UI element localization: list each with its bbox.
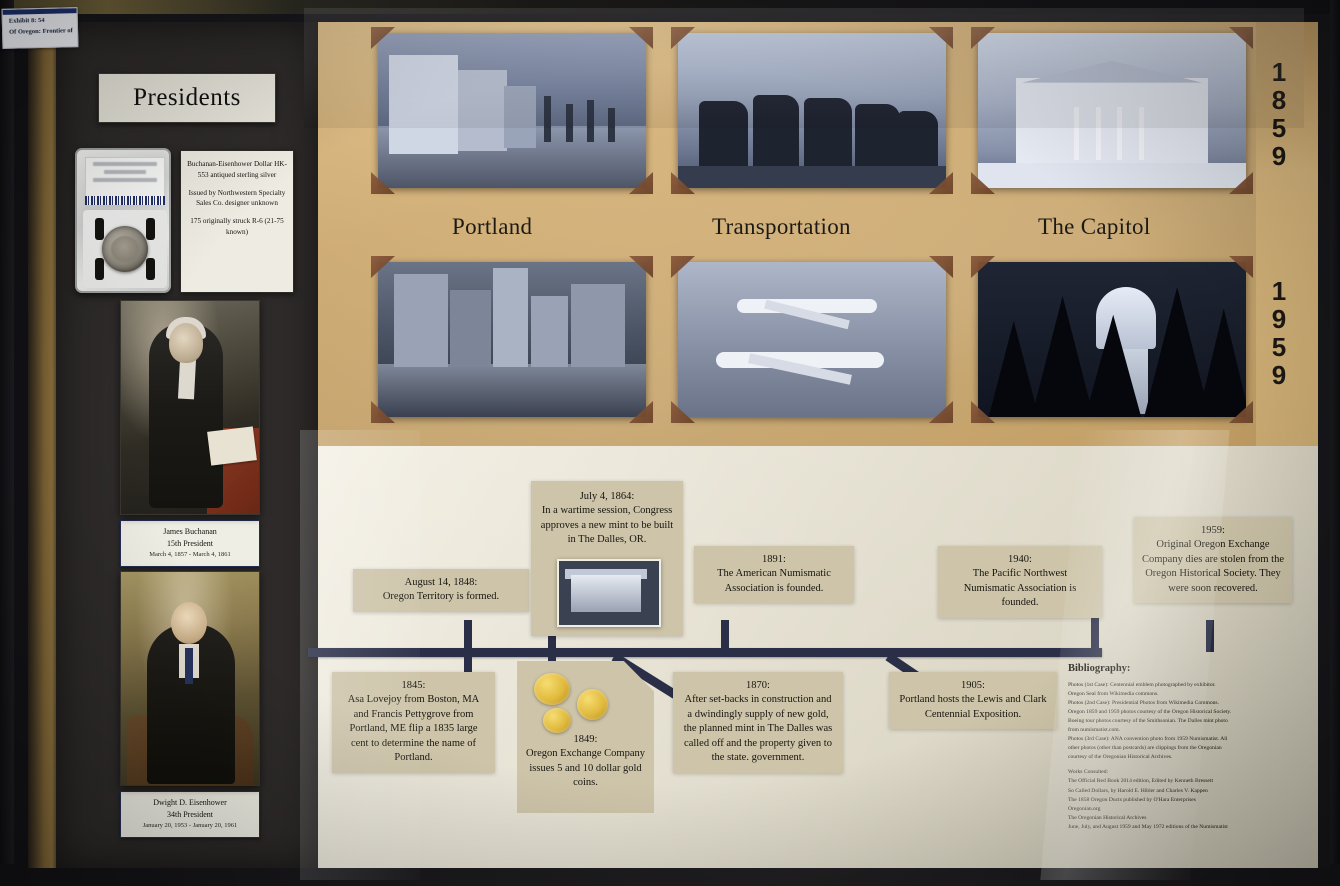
coin-card-para-3: 175 originally struck R-6 (21-75 known) <box>186 216 288 238</box>
timeline-card-1940: 1940: The Pacific Northwest Numismatic A… <box>938 546 1102 618</box>
gold-coin-icon <box>577 689 608 720</box>
timeline-card-text: The Pacific Northwest Numismatic Associa… <box>946 567 1094 610</box>
bibliography-line: Oregon 1859 and 1959 photos courtesy of … <box>1068 708 1330 717</box>
year-label-1959: 1959 <box>1266 277 1292 389</box>
timeline-card-text: Original Oregon Exchange Company dies ar… <box>1142 538 1284 596</box>
the-dalles-mint-photo <box>557 559 661 627</box>
bibliography-line: Photos (2nd Case): Presidential Photos f… <box>1068 699 1330 708</box>
timeline-card-1959: 1959: Original Oregon Exchange Company d… <box>1134 517 1292 603</box>
timeline-card-1891: 1891: The American Numismatic Associatio… <box>694 546 854 603</box>
year-label-1859: 1859 <box>1266 58 1292 170</box>
timeline-card-text: Oregon Territory is formed. <box>361 590 521 604</box>
bibliography-line: Oregon Seal from Wikimedia commons. <box>1068 690 1330 699</box>
timeline-card-text: Portland hosts the Lewis and Clark Cente… <box>897 693 1049 722</box>
timeline-card-year: August 14, 1848: <box>361 576 521 590</box>
bibliography-line: from numismatist.com. <box>1068 726 1330 735</box>
timeline-stub-1940 <box>1091 618 1099 652</box>
graded-coin-slab <box>75 148 171 293</box>
coin-description-card: Buchanan-Eisenhower Dollar HK-553 antiqu… <box>180 150 294 293</box>
portrait-caption-buchanan: James Buchanan 15th President March 4, 1… <box>120 520 260 567</box>
slab-label-line <box>93 178 157 182</box>
president-term-dates: March 4, 1857 - March 4, 1861 <box>124 550 256 560</box>
timeline-card-year: 1940: <box>946 553 1094 567</box>
works-consulted-heading: Works Consulted: <box>1068 768 1330 777</box>
photo-capitol-1959 <box>978 262 1246 417</box>
president-name: James Buchanan <box>124 526 256 538</box>
timeline-card-year: 1870: <box>681 679 835 693</box>
timeline-card-text: Asa Lovejoy from Boston, MA and Francis … <box>340 693 487 765</box>
bibliography-line: June, July, and August 1959 and May 1972… <box>1068 823 1330 832</box>
bibliography-line: courtesy of the Oregonian Historical Arc… <box>1068 753 1330 762</box>
president-term-dates: January 20, 1953 - January 20, 1961 <box>124 821 256 831</box>
timeline-card-year: 1891: <box>702 553 846 567</box>
president-name: Dwight D. Eisenhower <box>124 797 256 809</box>
timeline-card-text: After set-backs in construction and a dw… <box>681 693 835 765</box>
timeline-card-text: Oregon Exchange Company issues 5 and 10 … <box>524 747 647 790</box>
timeline-card-1870: 1870: After set-backs in construction an… <box>673 672 843 773</box>
exhibit-number-sticker: Exhibit 8: 54 Of Oregon: Frontier of <box>2 7 79 49</box>
presidents-title-plaque: Presidents <box>98 73 276 123</box>
timeline-card-1905: 1905: Portland hosts the Lewis and Clark… <box>889 672 1057 729</box>
bibliography-works-consulted: Works Consulted: The Official Red Book 2… <box>1068 768 1330 831</box>
coin-card-para-1: Buchanan-Eisenhower Dollar HK-553 antiqu… <box>186 159 288 181</box>
case-inner-left-wall <box>28 22 58 868</box>
timeline-card-1864: July 4, 1864: In a wartime session, Cong… <box>531 481 683 636</box>
timeline-card-year: 1849: <box>524 733 647 747</box>
president-rank: 15th President <box>124 538 256 550</box>
portrait-block-buchanan: James Buchanan 15th President March 4, 1… <box>120 300 260 567</box>
timeline-card-text: The American Numismatic Association is f… <box>702 567 846 596</box>
photo-portland-1959 <box>378 262 646 417</box>
slab-barcode <box>85 196 165 205</box>
dwight-eisenhower-portrait-image <box>120 571 260 786</box>
bibliography-line: Photos (1st Case): Centennial emblem pho… <box>1068 681 1330 690</box>
photo-transportation-1859 <box>678 33 946 188</box>
slab-coin-window <box>83 210 167 288</box>
case-frame-left <box>0 0 14 886</box>
timeline-card-year: 1905: <box>897 679 1049 693</box>
photo-column-label-portland: Portland <box>452 214 532 240</box>
timeline-card-1845: 1845: Asa Lovejoy from Boston, MA and Fr… <box>332 672 495 773</box>
president-rank: 34th President <box>124 809 256 821</box>
timeline-stub-1959 <box>1206 620 1214 652</box>
bibliography-line: The Oregonian Historical Archives <box>1068 814 1330 823</box>
photo-transportation-1959 <box>678 262 946 417</box>
photo-portland-1859 <box>378 33 646 188</box>
photo-column-label-capitol: The Capitol <box>1038 214 1151 240</box>
buchanan-eisenhower-dollar-coin <box>102 226 148 272</box>
timeline-main-bar <box>308 648 1102 657</box>
gold-coin-icon <box>543 708 571 733</box>
timeline-card-year: 1959: <box>1142 524 1284 538</box>
portrait-block-eisenhower: Dwight D. Eisenhower 34th President Janu… <box>120 571 260 838</box>
bibliography-heading: Bibliography: <box>1068 663 1330 674</box>
bibliography-line: So Called Dollars, by Harold E. Hibler a… <box>1068 787 1330 796</box>
photo-column-label-transportation: Transportation <box>712 214 851 240</box>
bibliography-line: other photos (other than postcards) are … <box>1068 744 1330 753</box>
james-buchanan-portrait-image <box>120 300 260 515</box>
timeline-card-text: In a wartime session, Congress approves … <box>539 504 675 547</box>
bibliography-line: The Official Red Book 2014 edition, Edit… <box>1068 777 1330 786</box>
page-title: Presidents <box>133 84 241 112</box>
photo-capitol-1859 <box>978 33 1246 188</box>
exhibit-case-photograph: Exhibit 8: 54 Of Oregon: Frontier of Pre… <box>0 0 1340 886</box>
timeline-card-year: July 4, 1864: <box>539 490 675 504</box>
slab-label-line <box>104 170 146 174</box>
timeline-card-year: 1845: <box>340 679 487 693</box>
bibliography-line: Boeing tour photos courtesy of the Smith… <box>1068 717 1330 726</box>
bibliography-section: Bibliography: Photos (1st Case): Centenn… <box>1068 663 1330 832</box>
timeline-card-1849: 1849: Oregon Exchange Company issues 5 a… <box>517 661 654 813</box>
timeline-stub-1891 <box>721 620 729 650</box>
bibliography-line: Photos (3rd Case): ANA convention photo … <box>1068 735 1330 744</box>
timeline-card-1848: August 14, 1848: Oregon Territory is for… <box>353 569 529 612</box>
coin-card-para-2: Issued by Northwestern Specialty Sales C… <box>186 188 288 210</box>
gold-coin-icon <box>534 673 570 705</box>
bibliography-line: The 1858 Oregon Ducts published by O'Har… <box>1068 796 1330 805</box>
bibliography-line: Oregonian.org <box>1068 805 1330 814</box>
slab-label-line <box>93 162 157 166</box>
sticker-line-2: Of Oregon: Frontier of <box>3 25 77 38</box>
portrait-caption-eisenhower: Dwight D. Eisenhower 34th President Janu… <box>120 791 260 838</box>
bibliography-photo-credits: Photos (1st Case): Centennial emblem pho… <box>1068 681 1330 762</box>
case-frame-right <box>1330 0 1340 886</box>
